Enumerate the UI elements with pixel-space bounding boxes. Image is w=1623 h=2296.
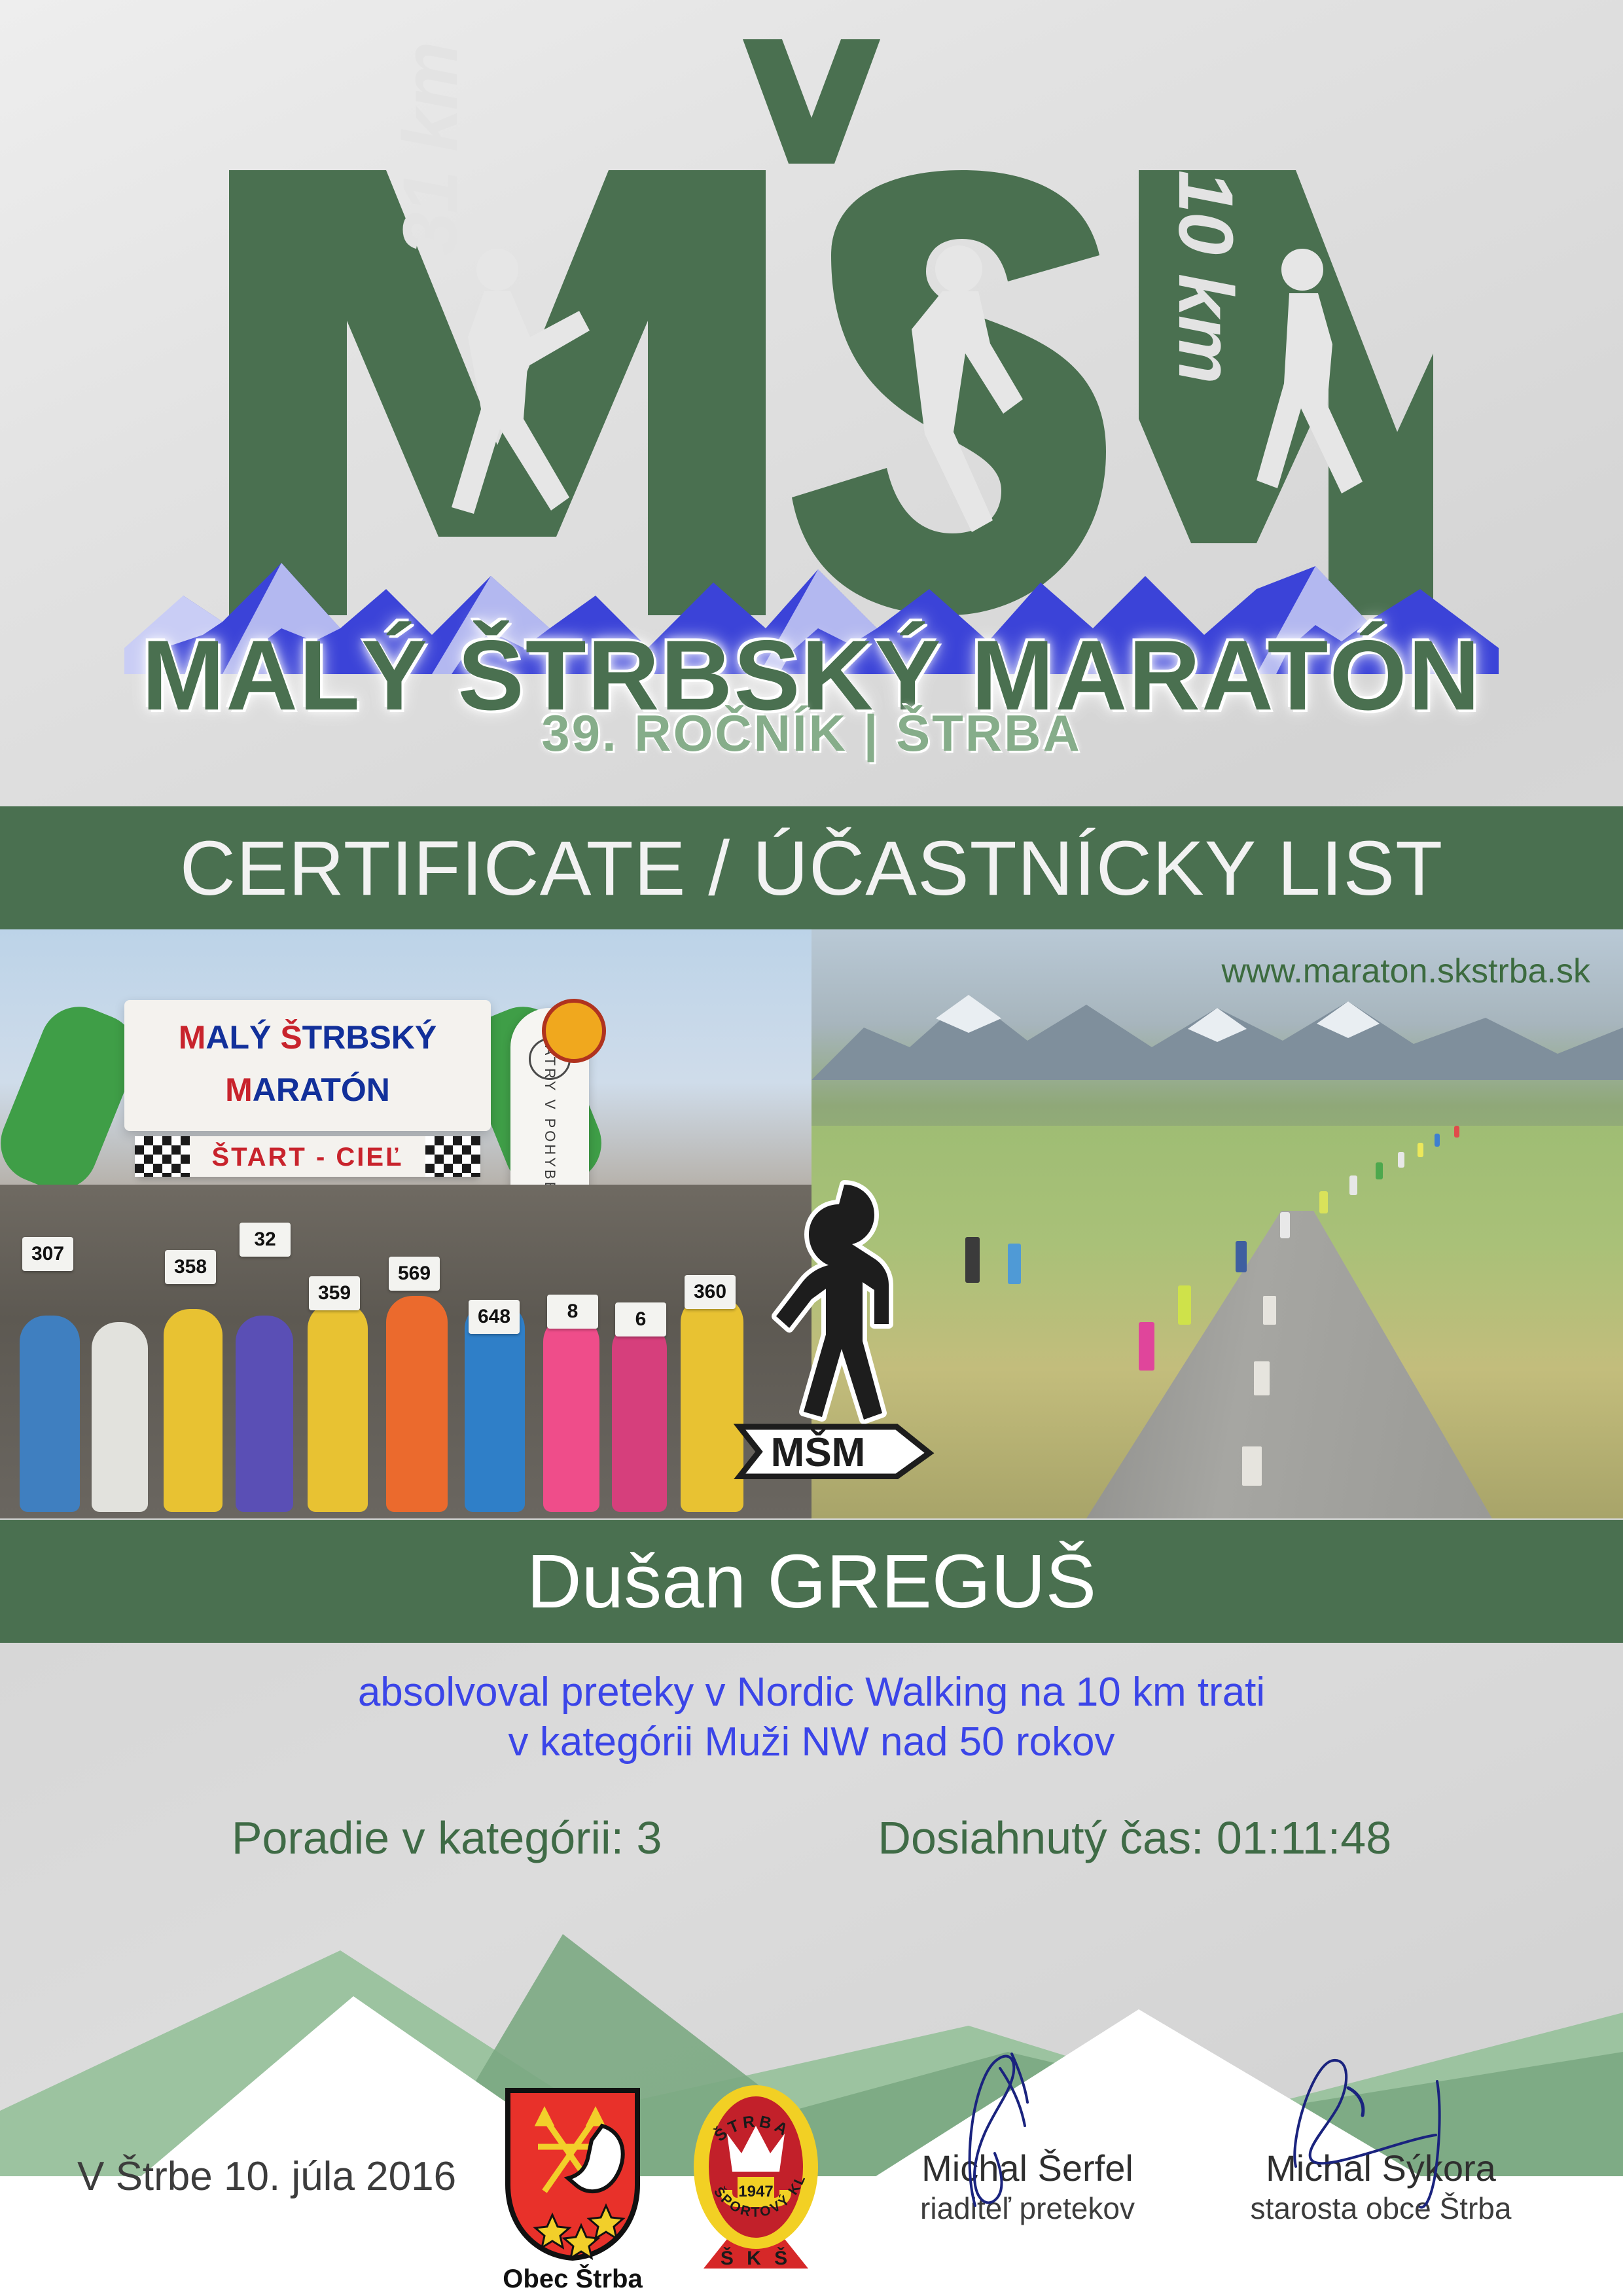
start-arch-icon: MALÝ ŠTRBSKÝ MARATÓN ŠTART - CIEĽ TATRY … [7,969,596,1185]
msm-logotype: 31 km 10 km [190,39,1433,615]
flag-banner-text: TATRY V POHYBE [541,1035,558,1194]
finish-tape-banner: ŠTART - CIEĽ [137,1136,478,1177]
club-initials: Š K Š [721,2247,791,2269]
description-line-2: v kategórii Muži NW nad 50 rokov [0,1717,1623,1767]
bib-number: 358 [165,1250,216,1284]
distance-badge-10km: 10 km [1161,170,1250,383]
certificate-title-band: CERTIFICATE / ÚČASTNÍCKY LIST [0,806,1623,931]
runner-figure [1236,1241,1247,1272]
runner-figure [92,1322,148,1512]
runner-figure [308,1302,368,1512]
certificate-footer: V Štrbe 10. júla 2016 Obec Štrba [0,2049,1623,2296]
runner-figure [1398,1152,1404,1168]
distance-badge-31km: 31 km [386,43,475,255]
club-year: 1947 [738,2183,773,2200]
photo-start-line: MALÝ ŠTRBSKÝ MARATÓN ŠTART - CIEĽ TATRY … [0,929,811,1518]
emblem-label: MŠM [771,1430,866,1475]
certificate-page: 31 km 10 km MALÝ ŠTRBSKÝ MARATÓN 39. ROČ… [0,0,1623,2296]
signature-block-mayor: Michal Sýkora starosta obce Štrba [1198,2147,1564,2226]
bib-number: 8 [547,1295,598,1329]
runner-figure [1349,1175,1357,1195]
participant-name-band: Dušan GREGUŠ [0,1520,1623,1643]
runner-figure [164,1309,223,1512]
runner-figure [386,1296,448,1512]
runner-figure [1139,1322,1154,1371]
photo-strip: MALÝ ŠTRBSKÝ MARATÓN ŠTART - CIEĽ TATRY … [0,929,1623,1518]
bib-number: 32 [240,1223,291,1257]
signature-block-director: Michal Šerfel riaditeľ pretekov [844,2147,1211,2226]
bib-number: 307 [22,1237,73,1271]
runner-crowd: 307 358 32 359 569 648 8 6 360 [0,1185,811,1518]
municipality-label: Obec Štrba [481,2265,664,2294]
spectator-figure [1008,1244,1021,1284]
runner-figure [465,1302,525,1512]
bib-number: 569 [389,1257,440,1291]
arch-text-line1: MALÝ ŠTRBSKÝ [124,1018,491,1056]
signer-role: starosta obce Štrba [1198,2191,1564,2226]
event-subtitle: 39. ROČNÍK | ŠTRBA [0,704,1623,763]
runner-figure [1418,1143,1423,1157]
signer-role: riaditeľ pretekov [844,2191,1211,2226]
start-finish-text: ŠTART - CIEĽ [137,1143,478,1172]
obec-strba-crest-icon [504,2087,641,2262]
arch-banner: MALÝ ŠTRBSKÝ MARATÓN [124,1000,491,1131]
bib-number: 6 [615,1302,666,1336]
issue-date: V Štrbe 10. júla 2016 [77,2153,456,2200]
runner-figure [543,1316,599,1512]
runner-figure [1280,1212,1290,1238]
spectator-figure [965,1237,980,1283]
sks-strba-club-logo-icon: ŠTRBA ŠPORTOVÝ KLUB 1947 Š K Š [677,2079,834,2275]
certificate-title: CERTIFICATE / ÚČASTNÍCKY LIST [180,824,1443,913]
caron-accent-icon [736,39,887,164]
runner-figure [1435,1134,1440,1147]
road-marking [1242,1446,1262,1486]
runner-figure [1178,1285,1191,1325]
arch-text-line2: MARATÓN [124,1071,491,1109]
participant-name: Dušan GREGUŠ [527,1537,1096,1625]
runner-figure [1376,1162,1383,1179]
finish-time: Dosiahnutý čas: 01:11:48 [878,1812,1391,1864]
road-marking [1263,1296,1276,1325]
category-rank: Poradie v kategórii: 3 [232,1812,662,1864]
runner-figure [1319,1191,1328,1213]
signer-name: Michal Sýkora [1198,2147,1564,2189]
description-line-1: absolvoval preteky v Nordic Walking na 1… [0,1668,1623,1717]
runner-figure [20,1316,80,1512]
road-marking [1254,1361,1270,1395]
results-row: Poradie v kategórii: 3 Dosiahnutý čas: 0… [0,1812,1623,1864]
bib-number: 360 [685,1275,736,1309]
runner-figure [236,1316,293,1512]
msm-runner-emblem-icon: MŠM [733,1172,955,1479]
bib-number: 359 [309,1276,360,1310]
sponsor-badge-icon [542,999,606,1063]
signer-name: Michal Šerfel [844,2147,1211,2189]
runner-figure [1454,1126,1459,1138]
runner-figure [612,1322,667,1512]
bib-number: 648 [469,1300,520,1334]
achievement-description: absolvoval preteky v Nordic Walking na 1… [0,1668,1623,1767]
event-logo: 31 km 10 km MALÝ ŠTRBSKÝ MARATÓN 39. ROČ… [0,0,1623,805]
website-url: www.maraton.skstrba.sk [1222,952,1591,991]
